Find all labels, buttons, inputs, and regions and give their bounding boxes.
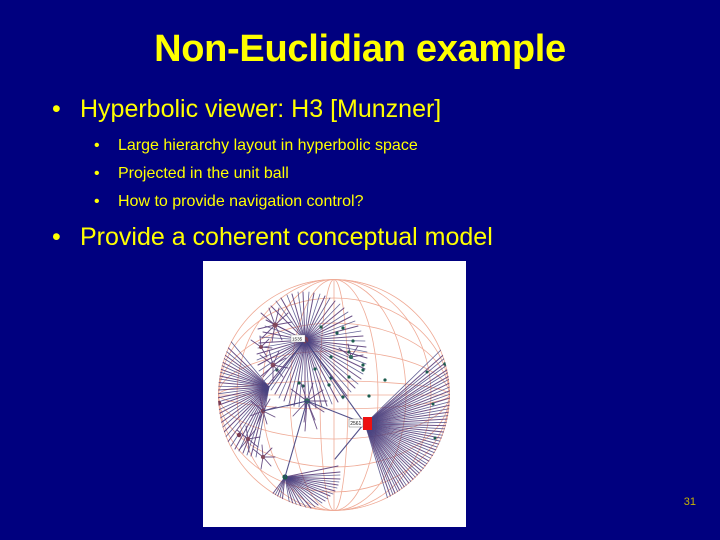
page-number: 31: [684, 496, 696, 509]
sub-bullet-item-1: • Large hierarchy layout in hyperbolic s…: [94, 135, 418, 157]
bullet-text: Provide a coherent conceptual model: [80, 222, 493, 252]
bullet-marker-icon: •: [94, 191, 118, 213]
bullet-item-2: • Provide a coherent conceptual model: [52, 222, 493, 252]
secondary-node-label: 1535: [292, 337, 303, 342]
slide-canvas: Non-Euclidian example • Hyperbolic viewe…: [0, 0, 720, 540]
figure-image-panel: 2561 1535: [203, 261, 466, 527]
sub-bullet-text: Large hierarchy layout in hyperbolic spa…: [118, 135, 418, 157]
sub-bullet-item-3: • How to provide navigation control?: [94, 191, 363, 213]
highlighted-node-label: 2561: [350, 421, 361, 427]
sub-bullet-item-2: • Projected in the unit ball: [94, 163, 289, 185]
sub-bullet-text: Projected in the unit ball: [118, 163, 289, 185]
sub-bullet-text: How to provide navigation control?: [118, 191, 363, 213]
bullet-marker-icon: •: [94, 163, 118, 185]
bullet-item-1: • Hyperbolic viewer: H3 [Munzner]: [52, 94, 441, 124]
page-title: Non-Euclidian example: [0, 26, 720, 72]
bullet-marker-icon: •: [52, 94, 80, 124]
bullet-text: Hyperbolic viewer: H3 [Munzner]: [80, 94, 441, 124]
bullet-marker-icon: •: [52, 222, 80, 252]
secondary-node-label-group: 1535: [291, 335, 305, 342]
bullet-marker-icon: •: [94, 135, 118, 157]
h3-hyperbolic-viewer-image: 2561 1535: [203, 261, 466, 527]
